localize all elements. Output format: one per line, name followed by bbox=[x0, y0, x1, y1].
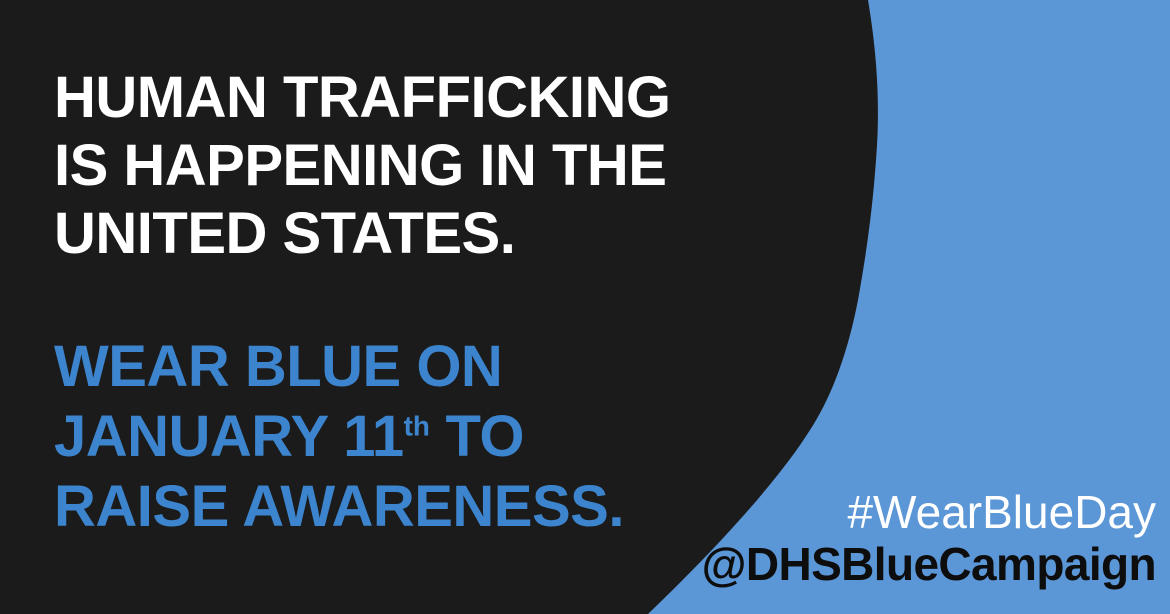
headline-line-2: IS HAPPENING IN THE bbox=[54, 132, 814, 200]
headline-line-1: HUMAN TRAFFICKING bbox=[54, 64, 814, 132]
headline: HUMAN TRAFFICKING IS HAPPENING IN THE UN… bbox=[54, 64, 814, 268]
cta-line-1: WEAR BLUE ON bbox=[54, 332, 814, 402]
handle-dhsbluecampaign[interactable]: @DHSBlueCampaign bbox=[702, 538, 1156, 590]
cta-date-ordinal-suffix: th bbox=[404, 411, 430, 442]
hashtag-wearblueday[interactable]: #WearBlueDay bbox=[702, 486, 1156, 538]
cta-line-3: RAISE AWARENESS. bbox=[54, 472, 814, 542]
social-block: #WearBlueDay @DHSBlueCampaign bbox=[702, 486, 1156, 590]
poster-canvas: HUMAN TRAFFICKING IS HAPPENING IN THE UN… bbox=[0, 0, 1170, 614]
cta-date-trailing: TO bbox=[430, 404, 524, 469]
cta-date-prefix: JANUARY 11 bbox=[54, 404, 404, 469]
headline-line-3: UNITED STATES. bbox=[54, 200, 814, 268]
cta-line-2: JANUARY 11th TO bbox=[54, 402, 814, 472]
call-to-action: WEAR BLUE ON JANUARY 11th TO RAISE AWARE… bbox=[54, 332, 814, 542]
